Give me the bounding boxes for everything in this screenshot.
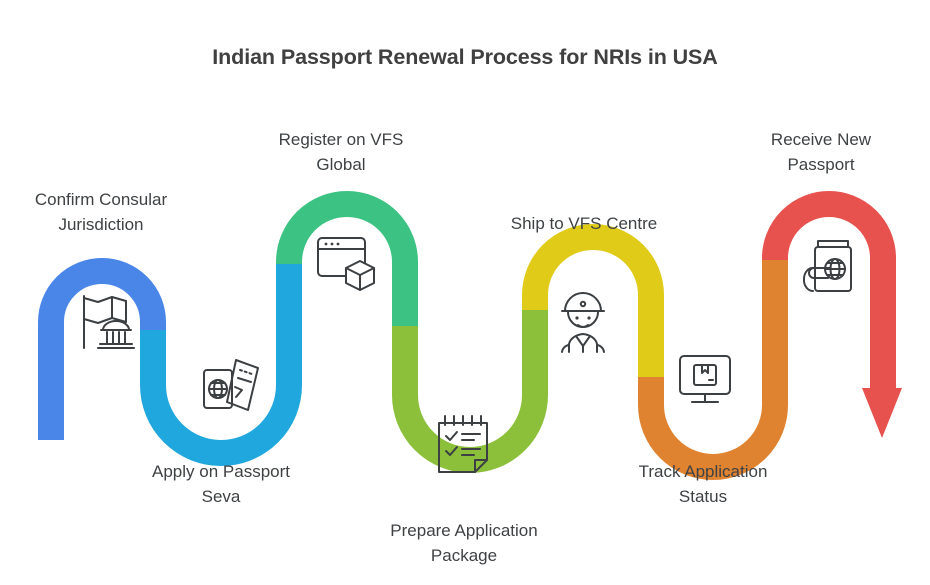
ribbon-segment-4-olive: [405, 310, 535, 460]
ribbon-path-group: [51, 204, 883, 467]
step-label-4: Prepare Application Package: [368, 519, 560, 568]
hand-receiving-passport-icon: [804, 241, 851, 291]
monitor-package-tracking-icon: [680, 356, 730, 402]
ribbon-segment-3-green: [289, 204, 405, 326]
step-label-3: Register on VFS Global: [250, 128, 432, 177]
step-label-5: Ship to VFS Centre: [488, 212, 680, 237]
infographic-root: Indian Passport Renewal Process for NRIs…: [0, 0, 930, 585]
ribbon-segment-7-red: [775, 204, 883, 392]
flow-arrowhead: [862, 388, 902, 438]
step-label-7: Receive New Passport: [730, 128, 912, 177]
step-label-2: Apply on Passport Seva: [130, 460, 312, 509]
flag-government-building-icon: [84, 296, 134, 348]
step-label-6: Track Application Status: [608, 460, 798, 509]
ribbon-segment-6-orange: [651, 260, 775, 467]
ribbon-segment-5-yellow: [535, 237, 651, 377]
ribbon-segment-1-blue: [51, 271, 153, 440]
delivery-courier-person-icon: [562, 293, 604, 352]
passport-ticket-icon: [204, 360, 258, 410]
step-label-1: Confirm Consular Jurisdiction: [10, 188, 192, 237]
ribbon-segment-2-cyan: [153, 264, 289, 453]
browser-window-box-icon: [318, 238, 374, 290]
